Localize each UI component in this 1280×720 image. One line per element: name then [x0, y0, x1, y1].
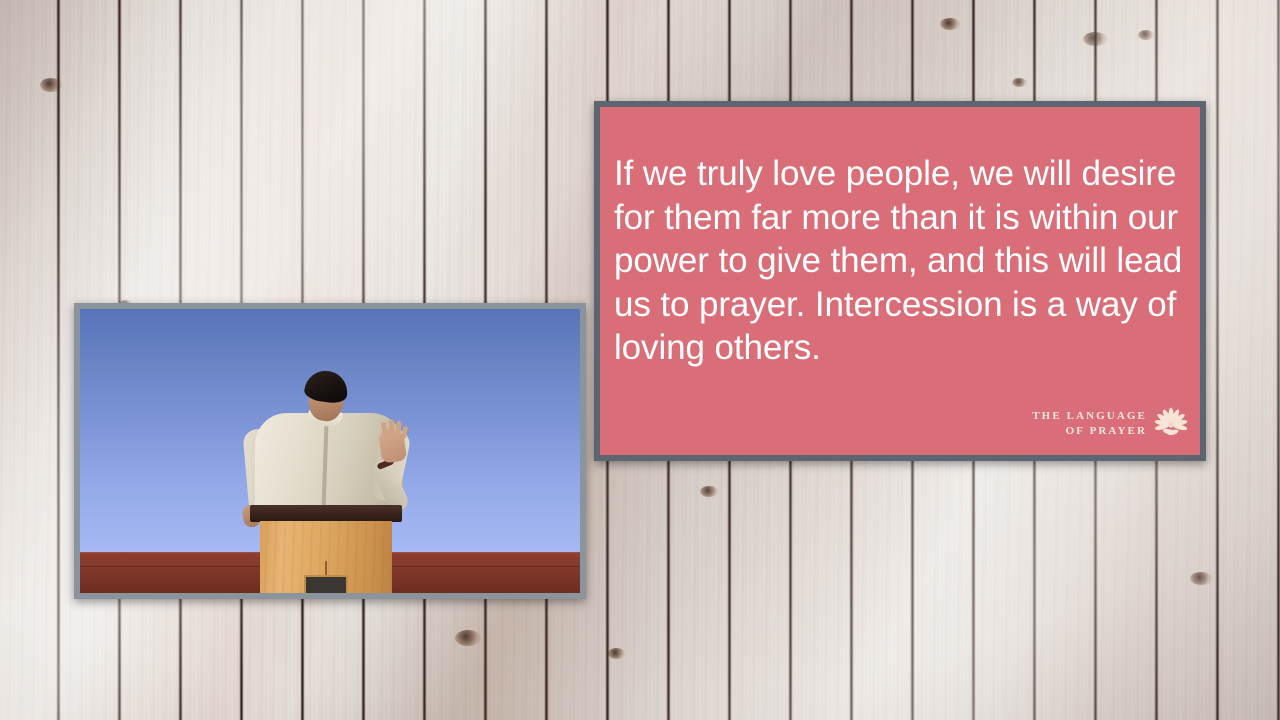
quote-slide-panel: If we truly love people, we will desire … [594, 101, 1206, 461]
pulpit-recess [304, 575, 348, 593]
flower-icon [1154, 407, 1188, 441]
pulpit-top [250, 505, 402, 522]
broadcast-frame: If we truly love people, we will desire … [0, 0, 1280, 720]
speaker-video-surface [80, 309, 580, 593]
quote-slide-surface: If we truly love people, we will desire … [600, 107, 1200, 455]
brand-line-1: THE LANGUAGE [1032, 409, 1147, 424]
brand-line-2: OF PRAYER [1032, 424, 1147, 439]
brand-wordmark: THE LANGUAGE OF PRAYER [1032, 409, 1147, 439]
speaker-video-panel [74, 303, 586, 599]
quote-text: If we truly love people, we will desire … [614, 152, 1194, 370]
brand-logo: THE LANGUAGE OF PRAYER [1032, 407, 1188, 441]
